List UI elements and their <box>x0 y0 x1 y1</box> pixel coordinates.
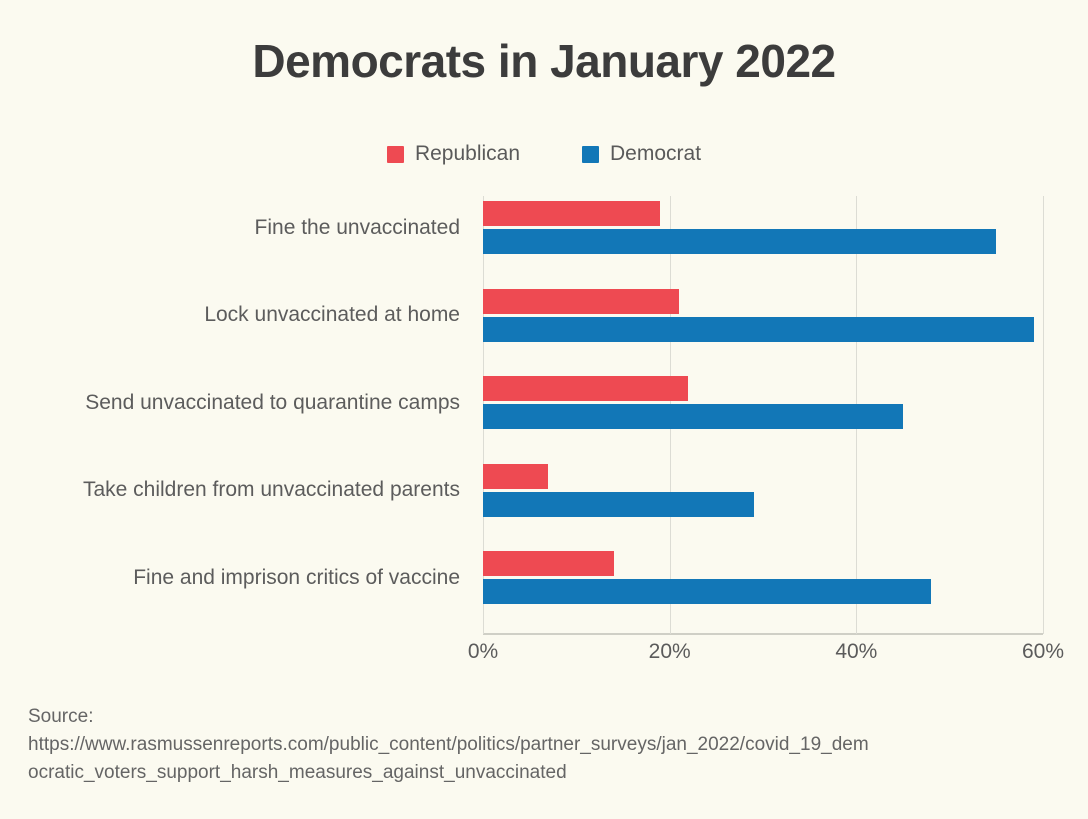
x-tick-label: 20% <box>649 640 691 664</box>
bar-republican[interactable] <box>483 464 548 489</box>
bar-republican[interactable] <box>483 289 679 314</box>
bar-democrat[interactable] <box>483 229 996 254</box>
x-tick-label: 60% <box>1022 640 1064 664</box>
y-axis-label-2: Send unvaccinated to quarantine camps <box>0 389 460 417</box>
bar-republican[interactable] <box>483 201 660 226</box>
bar-democrat[interactable] <box>483 317 1034 342</box>
chart-container: Democrats in January 2022 RepublicanDemo… <box>0 0 1088 819</box>
y-axis-label-0: Fine the unvaccinated <box>0 214 460 242</box>
chart-legend: RepublicanDemocrat <box>0 142 1088 166</box>
bar-republican[interactable] <box>483 551 614 576</box>
source-note: Source: https://www.rasmussenreports.com… <box>28 703 1068 787</box>
source-label: Source: <box>28 703 1068 731</box>
x-axis-line <box>483 633 1043 635</box>
source-url-line-1: https://www.rasmussenreports.com/public_… <box>28 731 1068 759</box>
legend-label: Republican <box>415 142 520 166</box>
source-url-line-2: ocratic_voters_support_harsh_measures_ag… <box>28 759 1068 787</box>
legend-swatch-democrat-icon <box>582 146 599 163</box>
legend-label: Democrat <box>610 142 701 166</box>
bar-group <box>483 464 1043 520</box>
bar-group <box>483 551 1043 607</box>
bar-democrat[interactable] <box>483 579 931 604</box>
x-tick-label: 0% <box>468 640 498 664</box>
plot-area <box>483 196 1043 634</box>
legend-swatch-republican-icon <box>387 146 404 163</box>
bar-group <box>483 289 1043 345</box>
bar-group <box>483 201 1043 257</box>
gridline-60 <box>1043 196 1044 634</box>
x-axis-tick-labels: 0%20%40%60% <box>0 640 1088 670</box>
bar-democrat[interactable] <box>483 404 903 429</box>
y-axis-label-3: Take children from unvaccinated parents <box>0 476 460 504</box>
page-title: Democrats in January 2022 <box>0 34 1088 88</box>
x-tick-label: 40% <box>835 640 877 664</box>
bar-group <box>483 376 1043 432</box>
y-axis-label-4: Fine and imprison critics of vaccine <box>0 564 460 592</box>
legend-item-democrat[interactable]: Democrat <box>582 142 701 166</box>
legend-item-republican[interactable]: Republican <box>387 142 520 166</box>
y-axis-category-labels: Fine the unvaccinatedLock unvaccinated a… <box>0 196 470 634</box>
bar-democrat[interactable] <box>483 492 754 517</box>
bar-republican[interactable] <box>483 376 688 401</box>
y-axis-label-1: Lock unvaccinated at home <box>0 301 460 329</box>
